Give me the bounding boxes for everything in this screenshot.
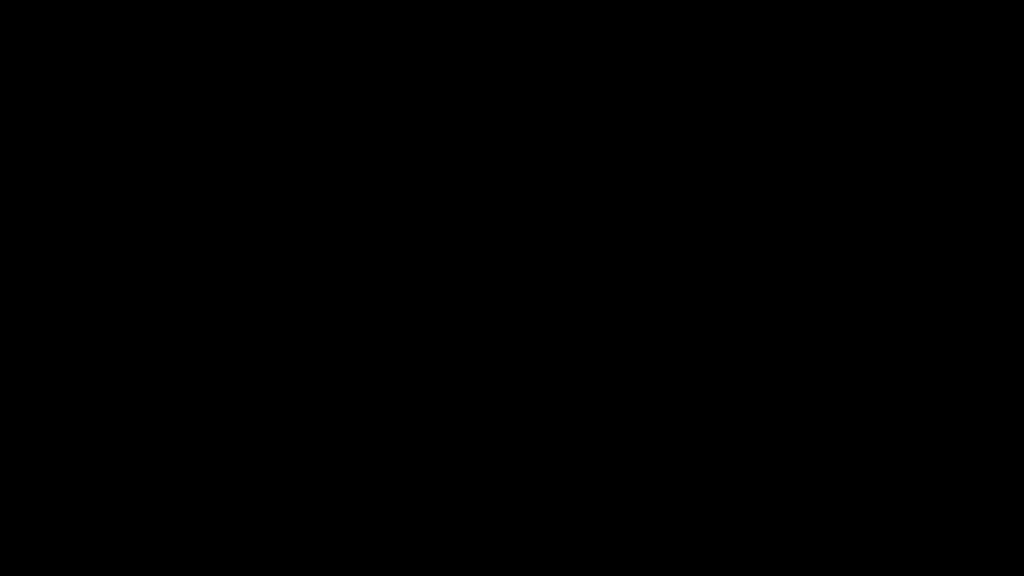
slide-canvas: “Be a Thermostat” Father Parks bbox=[0, 0, 1024, 576]
slide-subtitle: Father Parks bbox=[0, 443, 1024, 501]
eyeglasses-right-lens bbox=[771, 91, 807, 113]
inset-photo bbox=[515, 30, 995, 292]
inset-photo-frame bbox=[509, 24, 1001, 298]
frame-bottom-bar bbox=[0, 564, 1024, 576]
priest-hair-side bbox=[783, 74, 835, 152]
priest-chasuble-fold-highlight bbox=[815, 230, 905, 292]
title-block: “Be a Thermostat” Father Parks bbox=[0, 385, 1024, 501]
slide-title: “Be a Thermostat” bbox=[0, 385, 1024, 437]
eyeglasses-bridge bbox=[767, 96, 774, 98]
frame-top-bar bbox=[0, 0, 1024, 12]
